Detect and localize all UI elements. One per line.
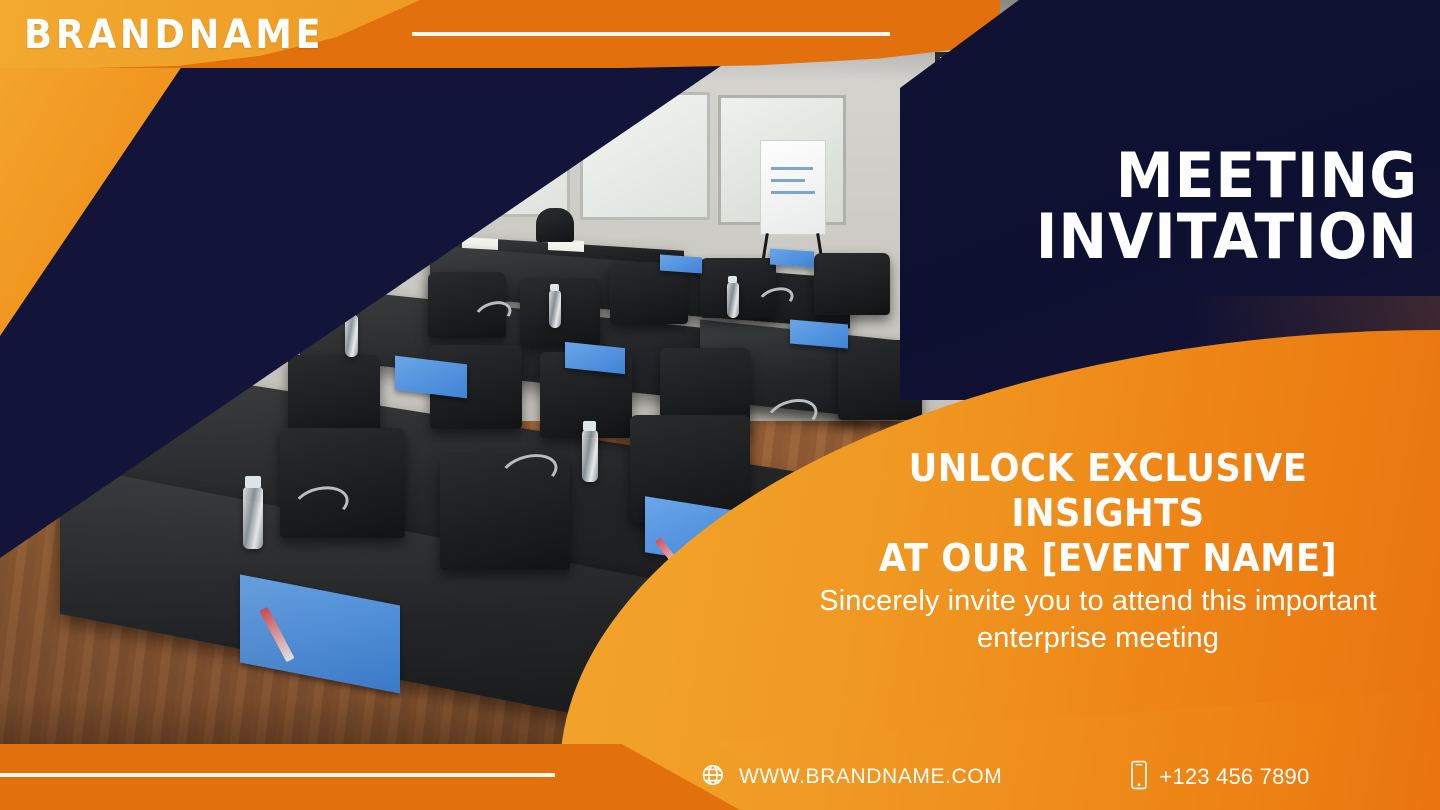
subtext-line-2: enterprise meeting	[778, 620, 1418, 657]
globe-icon	[700, 761, 728, 794]
brand-name: BRANDNAME	[24, 12, 324, 58]
title-line-2: INVITATION	[892, 207, 1418, 268]
bottom-bar-rule	[0, 773, 555, 777]
contact-bar: WWW.BRANDNAME.COM +123 456 7890	[600, 744, 1440, 810]
phone-number: +123 456 7890	[1159, 764, 1309, 790]
graphic-overlays: BRANDNAME MEETING INVITATION UNLOCK EXCL…	[0, 0, 1440, 810]
subtext-line-1: Sincerely invite you to attend this impo…	[819, 585, 1376, 617]
page-title: MEETING INVITATION	[892, 146, 1418, 268]
headline-line-2: AT OUR [EVENT NAME]	[820, 536, 1397, 581]
headline: UNLOCK EXCLUSIVE INSIGHTS AT OUR [EVENT …	[820, 446, 1397, 580]
top-bar-rule	[412, 32, 890, 36]
mobile-phone-icon	[1130, 760, 1148, 795]
headline-line-1: UNLOCK EXCLUSIVE INSIGHTS	[909, 446, 1308, 535]
phone-contact[interactable]: +123 456 7890	[1130, 760, 1309, 795]
website-contact[interactable]: WWW.BRANDNAME.COM	[700, 761, 1002, 794]
subtext: Sincerely invite you to attend this impo…	[778, 583, 1418, 656]
website-url: WWW.BRANDNAME.COM	[739, 765, 1002, 789]
meeting-invitation-poster: BRANDNAME MEETING INVITATION UNLOCK EXCL…	[0, 0, 1440, 810]
